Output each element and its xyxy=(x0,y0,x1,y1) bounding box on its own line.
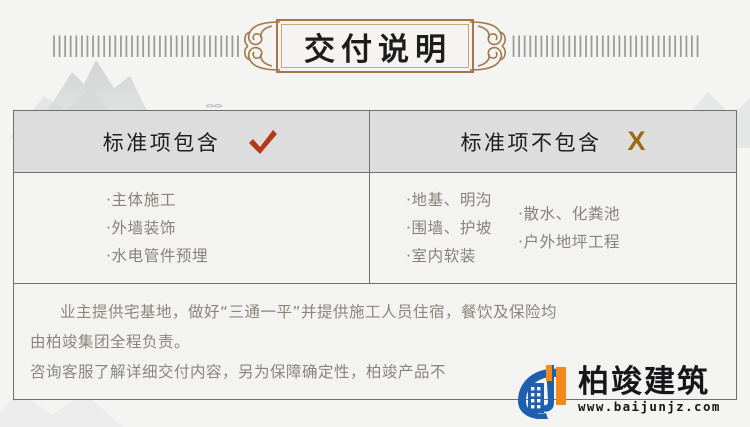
list-item: ·散水、化粪池 xyxy=(518,202,620,226)
check-icon xyxy=(246,127,280,157)
note-line-3: 咨询客服了解详细交付内容，另为保障确定性，柏竣产品不 xyxy=(30,358,720,388)
list-item: ·围墙、护坡 xyxy=(406,216,492,240)
note-block: 业主提供宅基地，做好“三通一平”并提供施工人员住宿，餐饮及保险均 由柏竣集团全程… xyxy=(14,284,736,399)
note-line-2: 由柏竣集团全程负责。 xyxy=(30,328,720,358)
delivery-table: 标准项包含 标准项不包含 X ·主体施工 ·外墙装饰 xyxy=(13,110,737,400)
list-item: ·室内软装 xyxy=(406,244,492,268)
page-title: 交付说明 xyxy=(298,24,452,69)
list-item: ·水电管件预埋 xyxy=(106,244,208,268)
header-cell-included: 标准项包含 xyxy=(14,111,370,172)
scroll-ornament-left-icon xyxy=(244,14,282,78)
body-cell-included: ·主体施工 ·外墙装饰 ·水电管件预埋 xyxy=(14,173,370,283)
title-banner: 交付说明 xyxy=(244,11,506,81)
header-label-included: 标准项包含 xyxy=(103,127,221,157)
list-item: ·主体施工 xyxy=(106,188,208,212)
hatch-right: |||||||||||||||||||||||||||||||||| xyxy=(510,35,725,57)
header-label-excluded: 标准项不包含 xyxy=(460,127,601,157)
x-icon: X xyxy=(627,128,645,155)
body-cell-excluded: ·地基、明沟 ·围墙、护坡 ·室内软装 ·散水、化粪池 ·户外地坪工程 xyxy=(370,173,736,283)
excluded-list-column-2: ·散水、化粪池 ·户外地坪工程 xyxy=(518,188,620,268)
title-banner-row: |||||||||||||||||||||||||||||||||| xyxy=(0,8,750,84)
list-item: ·地基、明沟 xyxy=(406,188,492,212)
included-list: ·主体施工 ·外墙装饰 ·水电管件预埋 xyxy=(106,188,208,268)
table-body-row: ·主体施工 ·外墙装饰 ·水电管件预埋 ·地基、明沟 ·围墙、护坡 ·室内软装 … xyxy=(14,173,736,284)
delivery-notice-page: |||||||||||||||||||||||||||||||||| xyxy=(0,0,750,427)
logo-website-url: www.baijunjz.com xyxy=(578,401,721,414)
header-cell-excluded: 标准项不包含 X xyxy=(370,111,736,172)
note-line-1: 业主提供宅基地，做好“三通一平”并提供施工人员住宿，餐饮及保险均 xyxy=(30,298,720,328)
table-header-row: 标准项包含 标准项不包含 X xyxy=(14,111,736,173)
list-item: ·外墙装饰 xyxy=(106,216,208,240)
list-item: ·户外地坪工程 xyxy=(518,230,620,254)
scroll-ornament-right-icon xyxy=(468,14,506,78)
hatch-left: |||||||||||||||||||||||||||||||||| xyxy=(25,35,240,57)
excluded-list-column-1: ·地基、明沟 ·围墙、护坡 ·室内软装 xyxy=(406,188,492,268)
